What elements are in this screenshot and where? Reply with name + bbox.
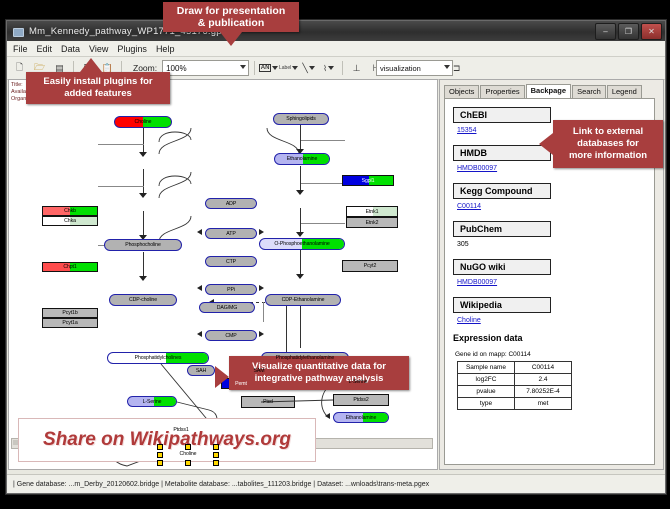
node-choline[interactable]: Choline	[114, 116, 172, 128]
arrow-head	[197, 229, 202, 235]
link-kegg[interactable]: C00114	[457, 203, 654, 210]
screenshot-root: Mm_Kennedy_pathway_WP1771_45176.gpml – ❐…	[0, 0, 670, 509]
node-label: CDP-Ethanolamine	[282, 297, 325, 303]
arrow-head	[259, 331, 264, 337]
arrow-head	[259, 285, 264, 291]
node-dagmg[interactable]: DAG/MG	[199, 302, 255, 313]
node-label: L-Serine	[143, 399, 162, 405]
menu-file[interactable]: File	[13, 44, 28, 54]
node-ctp[interactable]: CTP	[205, 256, 257, 267]
side-panel-tabs: Objects Properties Backpage Search Legen…	[444, 84, 663, 98]
node-cdp-ethanolamine[interactable]: CDP-Ethanolamine	[265, 294, 341, 306]
node-label: Pisd	[263, 399, 273, 405]
arrow-head	[139, 193, 147, 198]
node-label: Pcyt1b	[62, 310, 77, 316]
cell-value: 7.80252E-4	[515, 386, 572, 398]
selection-handle[interactable]	[213, 460, 219, 466]
edge-line	[263, 302, 264, 322]
expression-heading: Expression data	[453, 333, 654, 343]
status-text: | Gene database: ...m_Derby_20120602.bri…	[13, 481, 429, 488]
zoom-select[interactable]: 100%	[162, 60, 249, 76]
callout-links-line2: databases for	[577, 138, 639, 150]
gene-chpt1[interactable]: Chpt1	[42, 262, 98, 272]
edge-line	[301, 183, 345, 184]
selection-handle[interactable]	[157, 460, 163, 466]
node-ppi[interactable]: PPi	[205, 284, 257, 295]
value-pubchem: 305	[457, 241, 654, 248]
selection-handle[interactable]	[213, 452, 219, 458]
node-label: CDP-choline	[129, 297, 157, 303]
visualization-value: visualization	[380, 64, 421, 73]
visualization-select[interactable]: visualization	[376, 60, 453, 76]
selection-handle[interactable]	[157, 444, 163, 450]
status-bar: | Gene database: ...m_Derby_20120602.bri…	[7, 474, 665, 493]
selection-handle[interactable]	[185, 460, 191, 466]
node-label: Ethanolamine	[287, 156, 318, 162]
node-ethanolamine-2[interactable]: Ethanolamine	[333, 412, 389, 423]
arrow-head	[197, 331, 202, 337]
gene-pcyt2[interactable]: Pcyt2	[342, 260, 398, 272]
node-label: Pcyt2	[364, 263, 376, 269]
toolbar-separator	[254, 61, 255, 75]
menu-view[interactable]: View	[89, 44, 108, 54]
arrow-head	[296, 190, 304, 195]
window-controls: – ❐ ✕	[595, 23, 662, 40]
callout-draw-arrow	[220, 32, 242, 46]
node-label: PPi	[227, 287, 235, 293]
edge-line	[301, 223, 345, 224]
callout-plugins-line2: added features	[64, 88, 132, 100]
node-label: Ptdss2	[353, 397, 368, 403]
pathway-canvas[interactable]: Title: Availa Organi	[8, 79, 438, 470]
table-row: type met	[458, 398, 572, 410]
node-label: ATP	[226, 231, 235, 237]
callout-plugins-line1: Easily install plugins for	[43, 76, 152, 88]
align-bottom-icon[interactable]: ⊥	[348, 60, 365, 77]
menu-help[interactable]: Help	[156, 44, 175, 54]
callout-draw-line2: & publication	[198, 17, 265, 29]
callout-links-arrow	[539, 133, 553, 155]
gene-pcyt1a[interactable]: Pcyt1a	[42, 318, 98, 328]
title-bar: Mm_Kennedy_pathway_WP1771_45176.gpml – ❐…	[7, 21, 665, 41]
tab-legend[interactable]: Legend	[607, 85, 642, 98]
arrow-head	[325, 413, 330, 419]
node-label: Chka	[64, 218, 76, 224]
line-icon[interactable]: ╲	[300, 60, 317, 77]
edge-line	[98, 186, 144, 187]
node-label: Etnk1	[366, 209, 379, 215]
cell-name: log2FC	[458, 374, 515, 386]
callout-visualize-line1: Visualize quantitative data for	[252, 361, 386, 373]
node-sphingolipids[interactable]: Sphingolipids	[273, 113, 329, 125]
node-l-serine-left[interactable]: L-Serine	[127, 396, 177, 407]
callout-plugins: Easily install plugins for added feature…	[26, 72, 170, 104]
link-wikipedia[interactable]: Choline	[457, 317, 654, 324]
section-header-kegg: Kegg Compound	[453, 183, 551, 199]
section-header-chebi: ChEBI	[453, 107, 551, 123]
menu-edit[interactable]: Edit	[37, 44, 53, 54]
node-ethanolamine[interactable]: Ethanolamine	[274, 153, 330, 165]
arrow-head	[139, 276, 147, 281]
node-label: Sgpl1	[362, 178, 375, 184]
cell-value: 2.4	[515, 374, 572, 386]
node-label: Chpt1	[63, 264, 76, 270]
node-label: Chkb	[64, 208, 76, 214]
selection-handle[interactable]	[185, 444, 191, 450]
node-label: Phosphocholine	[125, 242, 161, 248]
node-o-phosphoethanolamine[interactable]: O-Phosphoethanolamine	[259, 238, 345, 250]
selection-handle[interactable]	[213, 444, 219, 450]
toolbar-separator	[342, 61, 343, 75]
selection-handle[interactable]	[157, 452, 163, 458]
gene-pisd[interactable]: Pisd	[241, 396, 295, 408]
table-row: pvalue 7.80252E-4	[458, 386, 572, 398]
cell-value: met	[515, 398, 572, 410]
share-text: Share on Wikipathways.org	[43, 429, 291, 451]
node-atp[interactable]: ATP	[205, 228, 257, 239]
gene-chka[interactable]: Chka	[42, 216, 98, 226]
gene-etnk2[interactable]: Etnk2	[346, 217, 398, 228]
node-label: Choline	[180, 451, 197, 457]
link-nugo[interactable]: HMDB00097	[457, 279, 654, 286]
callout-share: Share on Wikipathways.org	[18, 418, 316, 462]
datanode-icon[interactable]: AN	[260, 60, 277, 77]
pathvisio-icon	[12, 25, 24, 37]
node-label: Phosphatidylethanolamine	[276, 355, 334, 361]
tab-properties[interactable]: Properties	[480, 85, 524, 98]
chevron-down-icon	[240, 65, 246, 69]
callout-links: Link to external databases for more info…	[553, 120, 663, 168]
section-header-hmdb: HMDB	[453, 145, 551, 161]
table-row: Sample name C00114	[458, 362, 572, 374]
node-label: O-Phosphoethanolamine	[274, 241, 329, 247]
tab-backpage[interactable]: Backpage	[526, 84, 571, 98]
section-header-pubchem: PubChem	[453, 221, 551, 237]
section-header-nugo: NuGO wiki	[453, 259, 551, 275]
menu-plugins[interactable]: Plugins	[117, 44, 147, 54]
minimize-button[interactable]: –	[595, 23, 616, 40]
expression-table: Sample name C00114 log2FC 2.4 pvalue 7.8…	[457, 361, 572, 410]
callout-draw: Draw for presentation & publication	[163, 2, 299, 32]
node-label: Sphingolipids	[286, 116, 316, 122]
node-sah[interactable]: SAH	[187, 365, 215, 376]
node-label: ADP	[226, 201, 236, 207]
edge-line	[98, 144, 144, 145]
edge-line	[300, 302, 301, 348]
arrow-head	[296, 274, 304, 279]
arrow-head	[296, 232, 304, 237]
node-label: SAM	[254, 368, 265, 374]
cell-name: type	[458, 398, 515, 410]
cell-name: Sample name	[458, 362, 515, 374]
node-label: CTP	[226, 259, 236, 265]
gene-id-label: Gene id on mapp: C00114	[455, 351, 654, 358]
maximize-button[interactable]: ❐	[618, 23, 639, 40]
node-label: Ethanolamine	[346, 415, 377, 421]
node-label: Ptdss1	[173, 427, 188, 433]
arrow-head	[259, 229, 264, 235]
callout-visualize-arrow	[215, 366, 229, 388]
node-label: Pemt	[235, 381, 247, 387]
chevron-down-icon	[444, 65, 450, 69]
gene-pcyt1b[interactable]: Pcyt1b	[42, 308, 98, 318]
callout-links-line3: more information	[569, 150, 647, 162]
node-phosphatidylcholines[interactable]: Phosphatidylcholines	[107, 352, 209, 364]
table-row: log2FC 2.4	[458, 374, 572, 386]
gene-chkb[interactable]: Chkb	[42, 206, 98, 216]
menu-bar: File Edit Data View Plugins Help	[7, 41, 665, 57]
arrow-head	[139, 152, 147, 157]
node-label: Etnk2	[366, 220, 379, 226]
gene-etnk1[interactable]: Etnk1	[346, 206, 398, 217]
node-label: Choline	[135, 119, 152, 125]
anchor-icon[interactable]: ⌇	[320, 60, 337, 77]
tab-objects[interactable]: Objects	[444, 85, 479, 98]
label-icon[interactable]: Label	[280, 60, 297, 77]
callout-draw-line1: Draw for presentation	[177, 5, 286, 17]
node-label: CMP	[225, 333, 236, 339]
gene-ptdss2[interactable]: Ptdss2	[333, 394, 389, 406]
callout-plugins-arrow	[80, 58, 102, 72]
callout-links-line1: Link to external	[573, 126, 643, 138]
node-label: DAG/MG	[217, 305, 237, 311]
node-cmp[interactable]: CMP	[205, 330, 257, 341]
menu-data[interactable]: Data	[61, 44, 80, 54]
node-label: Pcyt1a	[62, 320, 77, 326]
section-header-wikipedia: Wikipedia	[453, 297, 551, 313]
node-phosphocholine[interactable]: Phosphocholine	[104, 239, 182, 251]
node-label: Phosphatidylcholines	[135, 355, 182, 361]
arrow-head	[197, 285, 202, 291]
node-adp[interactable]: ADP	[205, 198, 257, 209]
close-button[interactable]: ✕	[641, 23, 662, 40]
node-cdp-choline[interactable]: CDP-choline	[109, 294, 177, 306]
edge-line	[301, 140, 345, 141]
node-label: L-Serine	[349, 379, 368, 385]
cell-name: pvalue	[458, 386, 515, 398]
tab-search[interactable]: Search	[572, 85, 606, 98]
gene-sgpl1[interactable]: Sgpl1	[342, 175, 394, 186]
cell-value: C00114	[515, 362, 572, 374]
node-label: SAH	[196, 368, 206, 374]
